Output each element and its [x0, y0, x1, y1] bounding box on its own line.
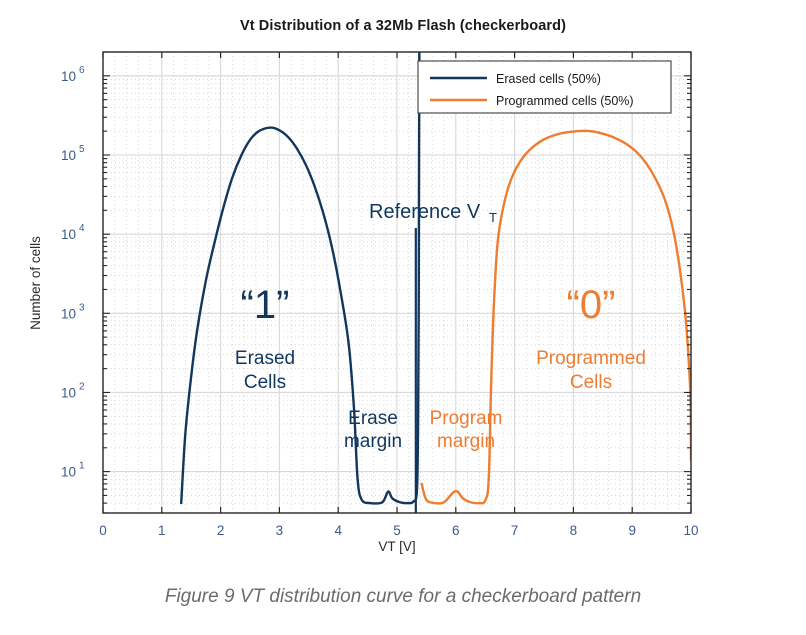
erased-symbol-label: “1” — [241, 283, 290, 327]
reference-vt-label: Reference V — [369, 201, 481, 223]
y-tick-label: 10 — [61, 69, 76, 84]
chart-legend[interactable]: Erased cells (50%) Programmed cells (50%… — [418, 61, 671, 113]
legend-label-programmed: Programmed cells (50%) — [496, 94, 634, 108]
y-tick-exponent: 5 — [79, 144, 85, 155]
y-tick-exponent: 4 — [79, 223, 85, 234]
x-tick-label: 5 — [393, 523, 401, 538]
legend-label-erased: Erased cells (50%) — [496, 72, 601, 86]
programmed-text-line2: Cells — [570, 372, 612, 393]
x-tick-label: 7 — [511, 523, 519, 538]
figure-container: Vt Distribution of a 32Mb Flash (checker… — [0, 0, 806, 635]
erase-margin-line2: margin — [344, 431, 402, 452]
y-tick-exponent: 3 — [79, 302, 85, 313]
y-tick-exponent: 1 — [79, 461, 85, 472]
chart-title: Vt Distribution of a 32Mb Flash (checker… — [0, 18, 806, 34]
figure-caption: Figure 9 VT distribution curve for a che… — [0, 586, 806, 608]
y-tick-label: 10 — [61, 227, 76, 242]
y-tick-exponent: 6 — [79, 65, 85, 76]
x-tick-label: 1 — [158, 523, 166, 538]
erase-margin-line1: Erase — [348, 408, 398, 429]
x-tick-label: 8 — [570, 523, 578, 538]
y-tick-label: 10 — [61, 148, 76, 163]
x-tick-label: 4 — [334, 523, 342, 538]
x-tick-label: 3 — [276, 523, 284, 538]
annotation-reference-vt: Reference V T — [369, 201, 497, 225]
programmed-text-line1: Programmed — [536, 348, 646, 369]
y-tick-exponent: 2 — [79, 381, 85, 392]
y-axis-label: Number of cells — [28, 236, 43, 330]
x-tick-label: 6 — [452, 523, 460, 538]
y-tick-label: 10 — [61, 306, 76, 321]
program-margin-line2: margin — [437, 431, 495, 452]
x-tick-label: 2 — [217, 523, 225, 538]
erased-text-line2: Cells — [244, 372, 286, 393]
program-margin-line1: Program — [430, 408, 503, 429]
programmed-symbol-label: “0” — [567, 283, 616, 327]
reference-vt-subscript: T — [489, 210, 497, 225]
x-axis-label: VT [V] — [378, 539, 415, 554]
y-tick-label: 10 — [61, 465, 76, 480]
y-tick-label: 10 — [61, 385, 76, 400]
x-tick-label: 0 — [99, 523, 107, 538]
chart-plot-area: 012345678910 101102103104105106 VT [V] N… — [0, 0, 806, 570]
x-tick-label: 10 — [683, 523, 698, 538]
erased-text-line1: Erased — [235, 348, 295, 369]
x-tick-label: 9 — [628, 523, 636, 538]
